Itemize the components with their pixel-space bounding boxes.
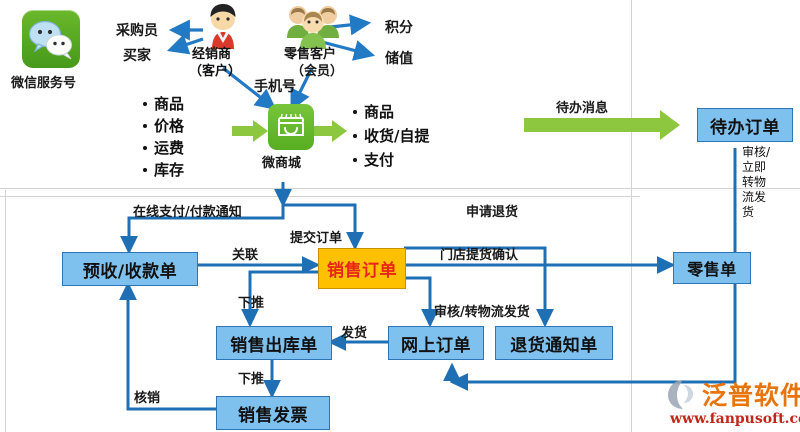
dealer-label-line2: （客户） — [189, 60, 241, 79]
list-item: 运费 — [143, 137, 184, 159]
shop-storefront-icon — [268, 104, 314, 150]
mall-input-list: 商品 价格 运费 库存 — [143, 93, 184, 181]
wechat-logo-icon — [22, 10, 80, 68]
input-item-3: 库存 — [154, 159, 184, 181]
edge-label-push-down-1: 下推 — [238, 292, 264, 311]
bullet-dot-icon — [143, 124, 147, 128]
edge-label-relate: 关联 — [232, 244, 258, 263]
list-item: 商品 — [143, 93, 184, 115]
bullet-dot-icon — [143, 146, 147, 150]
dealer-out-procurement: 采购员 — [116, 20, 158, 40]
output-item-1: 收货/自提 — [364, 124, 429, 148]
edge-label-ship: 发货 — [341, 322, 367, 341]
input-item-0: 商品 — [154, 93, 184, 115]
edge-label-apply-return: 申请退货 — [466, 201, 518, 220]
edge-label-store-pickup-confirm: 门店提货确认 — [440, 244, 518, 263]
list-item: 价格 — [143, 115, 184, 137]
node-retail-order[interactable]: 零售单 — [673, 252, 751, 284]
bullet-dot-icon — [143, 102, 147, 106]
bullet-dot-icon — [353, 158, 357, 162]
retail-out-stored-value: 储值 — [385, 48, 413, 68]
retail-customer-label-line2: （会员） — [291, 60, 343, 79]
node-sales-outbound[interactable]: 销售出库单 — [216, 326, 332, 360]
node-sales-order[interactable]: 销售订单 — [318, 248, 406, 289]
todo-side-line-4: 货 — [742, 205, 778, 220]
diagram-canvas: 微信服务号 经销商 （客户） 采购员 买家 零售客户 （会员） 积分 储值 手机… — [0, 0, 800, 432]
output-item-2: 支付 — [364, 148, 394, 172]
wechat-service-account-label: 微信服务号 — [11, 72, 76, 91]
todo-side-line-3: 流发 — [742, 190, 778, 205]
bullet-dot-icon — [353, 110, 357, 114]
bullet-dot-icon — [353, 134, 357, 138]
edge-label-push-down-2: 下推 — [238, 368, 264, 387]
edge-label-online-pay: 在线支付/付款通知 — [133, 201, 242, 220]
edge-label-write-off: 核销 — [134, 387, 160, 406]
node-return-notice[interactable]: 退货通知单 — [495, 326, 613, 360]
edge-label-audit-transfer-ship: 审核/转物流发货 — [434, 301, 530, 320]
list-item: 收货/自提 — [353, 124, 429, 148]
node-sales-invoice[interactable]: 销售发票 — [216, 396, 330, 430]
todo-side-line-1: 立即 — [742, 160, 778, 175]
micro-mall-label: 微商城 — [262, 152, 301, 171]
fanpu-swoosh-icon — [666, 378, 700, 410]
green-arrow-outputs — [314, 120, 347, 142]
storefront-glyph-icon — [268, 104, 314, 150]
node-receipt[interactable]: 预收/收款单 — [62, 252, 198, 286]
phone-number-label: 手机号 — [254, 76, 296, 96]
input-item-2: 运费 — [154, 137, 184, 159]
todo-message-label: 待办消息 — [556, 97, 608, 116]
output-item-0: 商品 — [364, 100, 394, 124]
list-item: 支付 — [353, 148, 429, 172]
todo-side-label: 审核/ 立即 转物 流发 货 — [742, 145, 778, 220]
fanpu-url: www.fanpusoft.com — [670, 411, 800, 427]
input-item-1: 价格 — [154, 115, 184, 137]
dealer-out-buyer: 买家 — [123, 45, 151, 65]
todo-side-line-2: 转物 — [742, 175, 778, 190]
todo-side-line-0: 审核/ — [742, 145, 778, 160]
fanpu-brand-name: 泛普软件 — [702, 376, 800, 412]
list-item: 商品 — [353, 100, 429, 124]
wechat-bubbles-icon — [22, 10, 80, 68]
node-todo-order[interactable]: 待办订单 — [697, 108, 793, 142]
mall-output-list: 商品 收货/自提 支付 — [353, 100, 429, 172]
retail-out-points: 积分 — [385, 17, 413, 37]
list-item: 库存 — [143, 159, 184, 181]
bullet-dot-icon — [143, 168, 147, 172]
node-online-order[interactable]: 网上订单 — [388, 326, 484, 360]
fanpu-watermark: 泛普软件 www.fanpusoft.com — [666, 376, 800, 427]
green-arrow-inputs — [232, 120, 268, 142]
edge-label-submit-order: 提交订单 — [290, 227, 342, 246]
